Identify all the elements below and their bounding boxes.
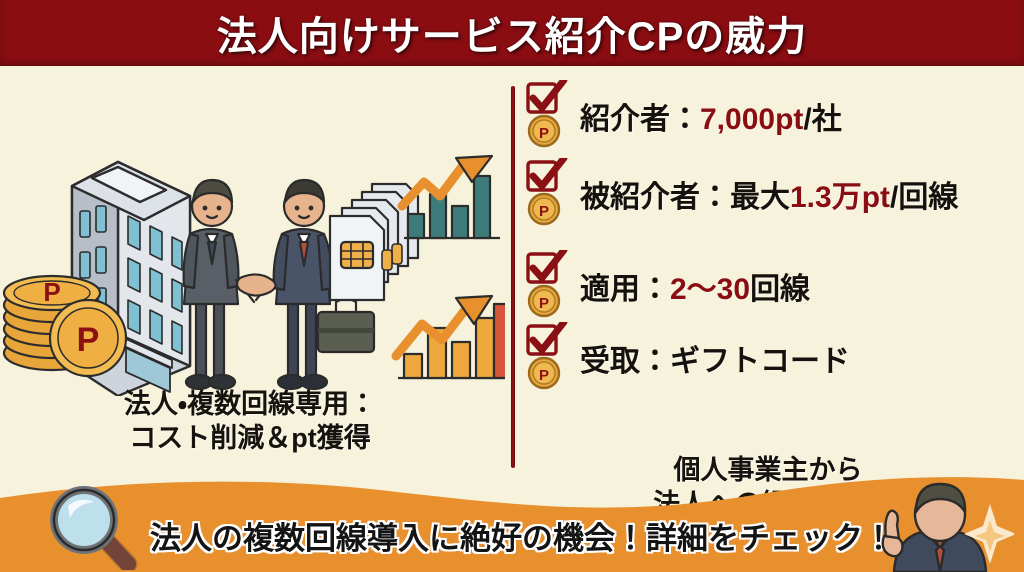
benefit-prefix: 被紹介者：最大	[580, 181, 790, 214]
svg-text:P: P	[539, 125, 549, 142]
benefit-icons: P	[524, 250, 570, 322]
benefit-suffix: /社	[803, 103, 841, 136]
svg-text:P: P	[539, 367, 549, 384]
footer-banner: 法人の複数回線導入に絶好の機会！詳細をチェック！	[0, 472, 1024, 572]
vertical-divider	[511, 86, 515, 468]
coin-letter: P	[77, 321, 100, 359]
benefit-icons: P	[524, 322, 570, 394]
benefit-highlight: 2〜30	[670, 273, 750, 306]
left-illustration: P P	[0, 66, 505, 396]
benefit-row: P 被紹介者：最大1.3万pt/回線	[524, 158, 1024, 236]
point-coin-icon: P	[529, 194, 559, 224]
page-title: 法人向けサービス紹介CPの威力	[217, 4, 808, 62]
left-caption-line-2: コスト削減＆pt獲得	[0, 422, 500, 456]
checkbox-checked-icon	[528, 80, 564, 112]
point-coin-icon: P	[529, 286, 559, 316]
checkbox-checked-icon	[528, 158, 564, 190]
footer-cta-text: 法人の複数回線導入に絶好の機会！詳細をチェック！	[150, 513, 870, 558]
benefit-highlight: 7,000pt	[700, 103, 803, 136]
left-caption-line-1: 法人・複数回線専用：	[0, 388, 500, 422]
checkbox-checked-icon	[528, 322, 564, 354]
benefit-prefix: 受取：ギフトコード	[580, 345, 850, 378]
svg-text:P: P	[539, 295, 549, 312]
benefit-text: 受取：ギフトコード	[580, 336, 850, 380]
left-caption: 法人・複数回線専用： コスト削減＆pt獲得	[0, 388, 500, 456]
benefit-highlight: 1.3万pt	[790, 181, 890, 214]
benefit-text: 紹介者：7,000pt/社	[580, 94, 842, 138]
benefits-list: P 紹介者：7,000pt/社	[524, 80, 1024, 394]
growth-bar-chart-orange-icon	[396, 296, 505, 378]
benefit-text: 被紹介者：最大1.3万pt/回線	[580, 172, 958, 216]
benefit-suffix: 回線	[750, 273, 810, 306]
svg-text:P: P	[539, 203, 549, 220]
infographic-poster: 法人向けサービス紹介CPの威力	[0, 0, 1024, 572]
benefit-suffix: /回線	[890, 181, 958, 214]
coin-letter: P	[43, 277, 60, 307]
benefit-icons: P	[524, 158, 570, 230]
benefit-prefix: 適用：	[580, 273, 670, 306]
benefit-icons: P	[524, 80, 570, 152]
benefit-row: P 受取：ギフトコード	[524, 322, 1024, 394]
point-coin-icon: P	[529, 358, 559, 388]
benefit-prefix: 紹介者：	[580, 103, 700, 136]
checkbox-checked-icon	[528, 250, 564, 282]
businessman-pointing-up-icon	[864, 480, 1014, 572]
header-banner: 法人向けサービス紹介CPの威力	[0, 0, 1024, 66]
benefit-text: 適用：2〜30回線	[580, 264, 810, 308]
benefit-row: P 紹介者：7,000pt/社	[524, 80, 1024, 158]
magnifying-glass-icon	[42, 484, 152, 570]
point-coin-icon: P	[529, 116, 559, 146]
benefit-row: P 適用：2〜30回線	[524, 250, 1024, 322]
